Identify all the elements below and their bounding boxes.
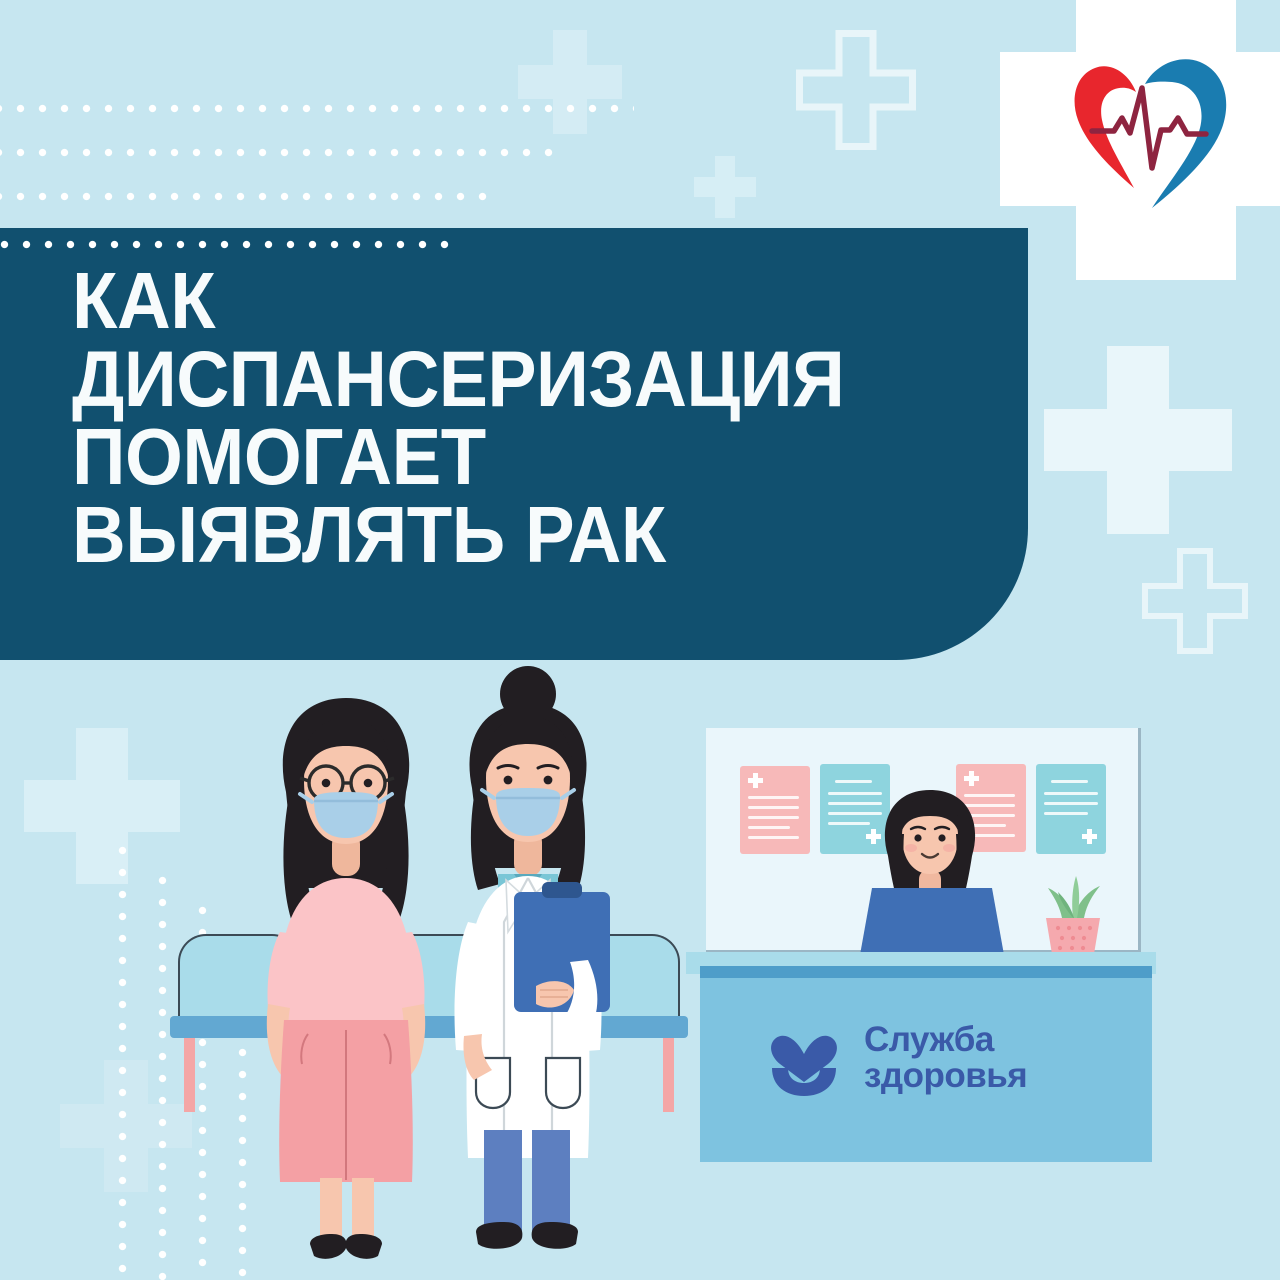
desk-edge (700, 966, 1152, 978)
heart-smile-icon (766, 1020, 842, 1096)
cross-outline-icon (1142, 548, 1248, 654)
wall-poster (1036, 764, 1106, 854)
heart-pulse-cross-logo (1048, 48, 1238, 213)
dotted-line-horizontal (0, 240, 450, 249)
poster-canvas: КАК ДИСПАНСЕРИЗАЦИЯ ПОМОГАЕТ ВЫЯВЛЯТЬ РА… (0, 0, 1280, 1280)
cross-filled-icon (1044, 346, 1232, 534)
title-line: ВЫЯВЛЯТЬ РАК (72, 496, 937, 574)
cross-filled-icon (518, 30, 622, 134)
doctor-woman (418, 660, 638, 1280)
headline-panel: КАК ДИСПАНСЕРИЗАЦИЯ ПОМОГАЕТ ВЫЯВЛЯТЬ РА… (0, 228, 1028, 660)
cross-filled-icon (694, 156, 756, 218)
dotted-line-horizontal (0, 192, 494, 201)
patient-woman (246, 682, 446, 1280)
clinic-illustration: Служба здоровья (0, 660, 1280, 1280)
dotted-line-horizontal (0, 148, 554, 157)
cross-outline-icon (796, 30, 916, 150)
brand-line-1: Служба (864, 1022, 1027, 1058)
title-line: ПОМОГАЕТ (72, 418, 937, 496)
title-line: КАК (72, 262, 937, 340)
brand-logo-text: Служба здоровья (864, 1022, 1027, 1095)
wall-poster (740, 766, 810, 854)
title-line: ДИСПАНСЕРИЗАЦИЯ (72, 340, 937, 417)
brand-logo: Служба здоровья (766, 1012, 1096, 1104)
brand-line-2: здоровья (864, 1058, 1027, 1094)
dotted-line-horizontal (0, 104, 634, 113)
potted-plant (1036, 866, 1110, 962)
page-title: КАК ДИСПАНСЕРИЗАЦИЯ ПОМОГАЕТ ВЫЯВЛЯТЬ РА… (72, 262, 937, 575)
